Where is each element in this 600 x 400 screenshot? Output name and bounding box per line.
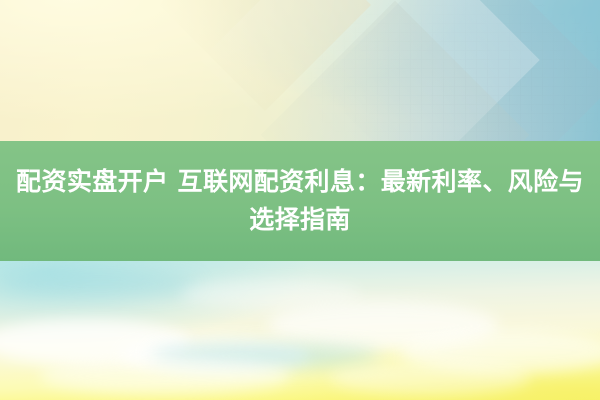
title-banner: 配资实盘开户 互联网配资利息：最新利率、风险与选择指南 xyxy=(0,141,600,261)
cloud-shape xyxy=(330,361,530,395)
bottom-sky-band xyxy=(0,261,600,400)
page-title: 配资实盘开户 互联网配资利息：最新利率、风险与选择指南 xyxy=(16,163,584,239)
article-hero-banner: 配资实盘开户 互联网配资利息：最新利率、风险与选择指南 xyxy=(0,0,600,400)
cloud-shape xyxy=(40,357,290,395)
cloud-wisp xyxy=(0,271,200,297)
top-decorative-band xyxy=(0,0,600,141)
